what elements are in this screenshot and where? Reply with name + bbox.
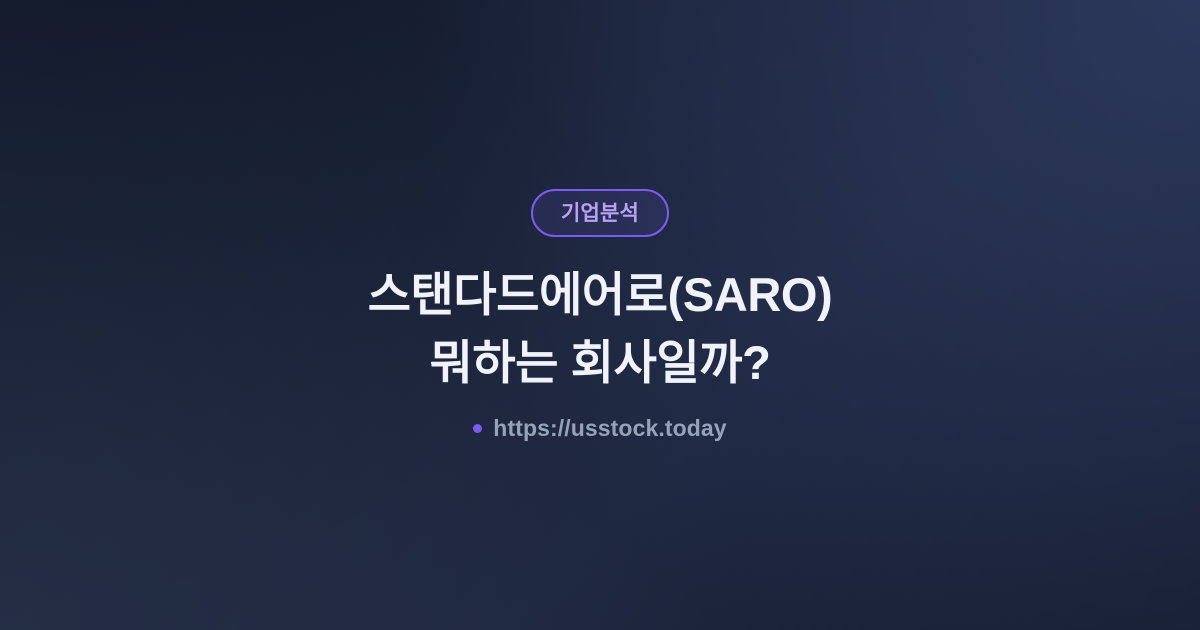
title-line-2: 뭐하는 회사일까? — [0, 329, 1200, 397]
site-url-row: https://usstock.today — [0, 417, 1200, 440]
bullet-dot-icon — [473, 424, 482, 433]
category-badge-label: 기업분석 — [561, 203, 639, 224]
badge-row: 기업분석 — [0, 189, 1200, 237]
og-share-card: 기업분석 스탠다드에어로(SARO) 뭐하는 회사일까? https://uss… — [0, 0, 1200, 630]
page-title: 스탠다드에어로(SARO) 뭐하는 회사일까? — [0, 261, 1200, 397]
site-url-label: https://usstock.today — [493, 417, 726, 440]
title-line-1: 스탠다드에어로(SARO) — [0, 261, 1200, 329]
category-badge: 기업분석 — [531, 189, 669, 237]
